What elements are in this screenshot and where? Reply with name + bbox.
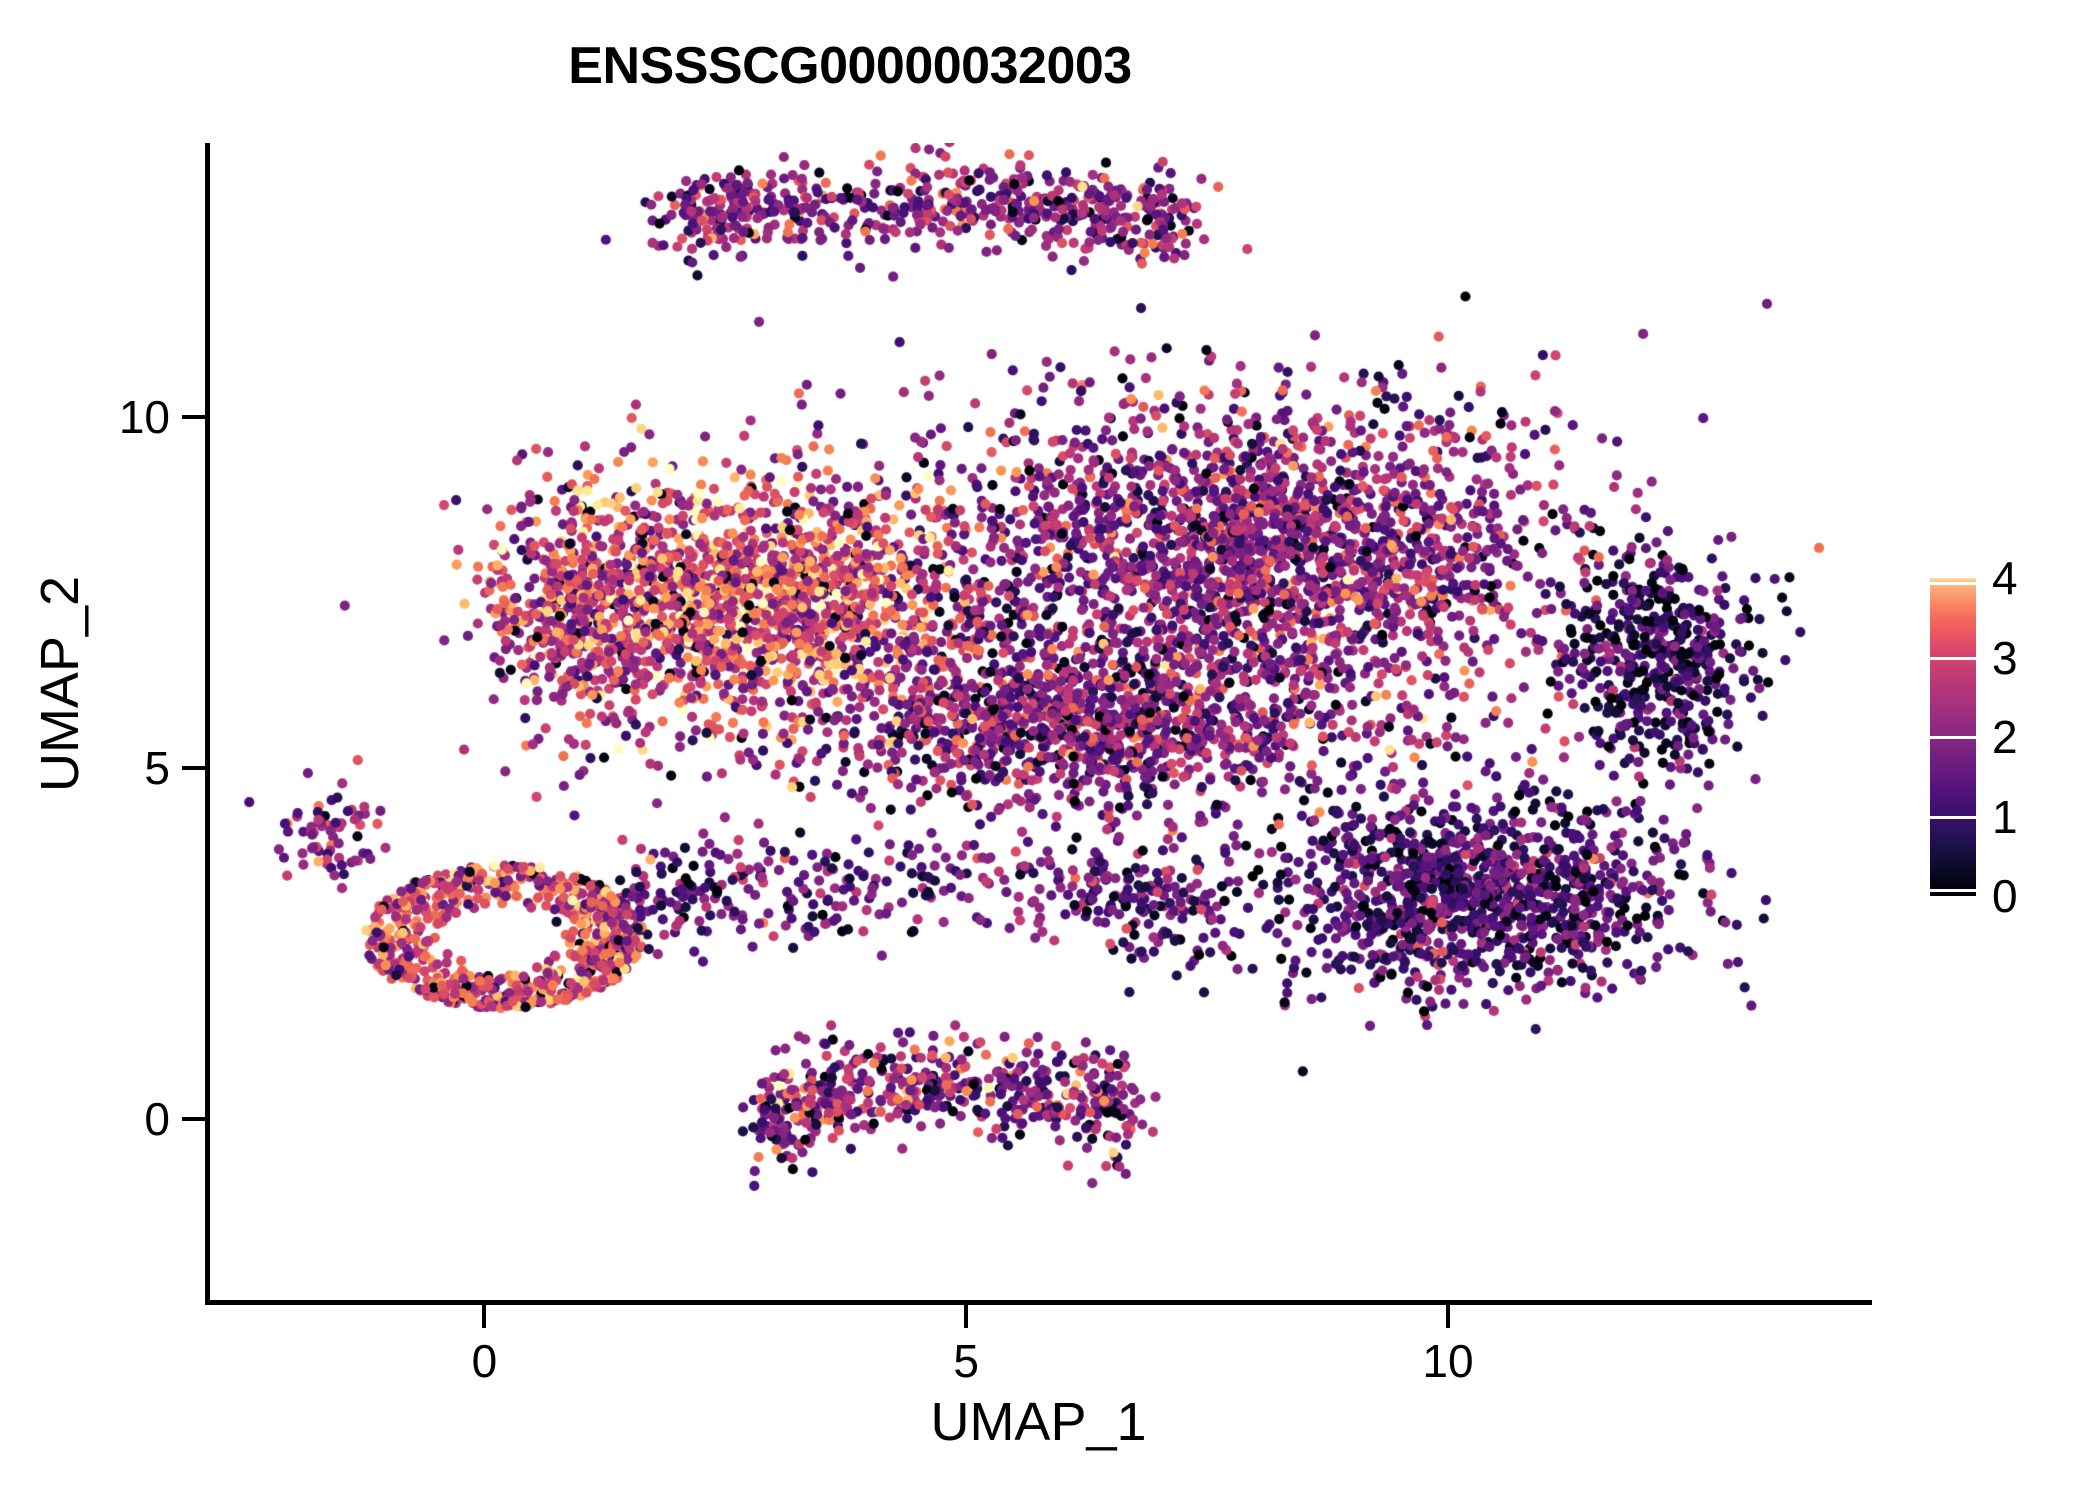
y-axis-title: UMAP_2	[33, 284, 87, 1084]
legend-tick-label: 1	[1992, 794, 2018, 840]
legend-tick-label: 2	[1992, 714, 2018, 760]
legend-tick-mark	[1930, 816, 1976, 819]
legend-tick-label: 0	[1992, 873, 2018, 919]
legend-tick-mark	[1930, 736, 1976, 739]
y-tick-mark	[182, 415, 205, 419]
x-axis-line	[205, 1300, 1872, 1305]
y-axis-line	[205, 143, 210, 1305]
y-tick-label-text: 0	[0, 1096, 170, 1142]
legend-tick-mark	[1930, 582, 1976, 585]
page-title: ENSSSCG00000032003	[0, 40, 1700, 92]
color-legend: 43210	[1930, 578, 2080, 898]
legend-tick-label: 3	[1992, 635, 2018, 681]
x-tick-label-text: 10	[1348, 1338, 1548, 1384]
legend-tick-mark	[1930, 889, 1976, 892]
plot-panel	[205, 143, 1872, 1302]
x-tick-mark	[482, 1305, 486, 1328]
x-tick-label-text: 5	[866, 1338, 1066, 1384]
x-axis-title: UMAP_1	[205, 1395, 1872, 1449]
legend-tick-mark	[1930, 657, 1976, 660]
legend-tick-label: 4	[1992, 555, 2018, 601]
y-tick-mark	[182, 766, 205, 770]
y-tick-mark	[182, 1117, 205, 1121]
x-tick-mark	[1446, 1305, 1450, 1328]
scatter-points-canvas	[205, 143, 1872, 1302]
umap-feature-plot: ENSSSCG00000032003 0510 0510 UMAP_1 UMAP…	[0, 0, 2100, 1500]
x-tick-mark	[964, 1305, 968, 1328]
x-tick-label-text: 0	[384, 1338, 584, 1384]
